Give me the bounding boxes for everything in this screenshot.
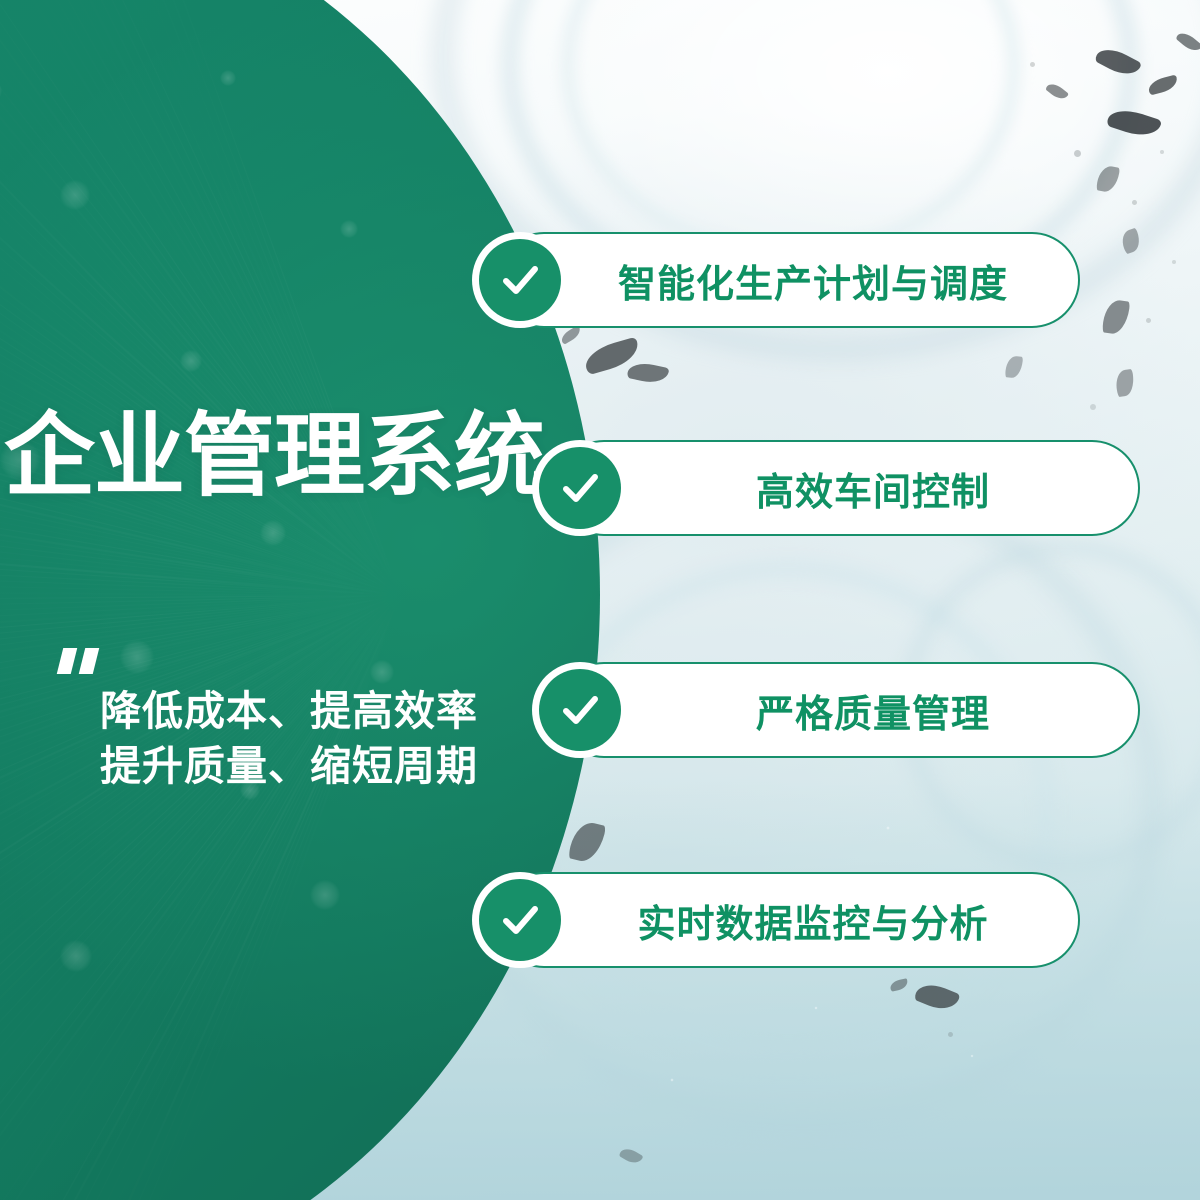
check-circle-icon xyxy=(532,440,628,536)
promo-poster: 企业管理系统 降低成本、提高效率 提升质量、缩短周期 智能化生产计划与调度 xyxy=(0,0,1200,1200)
feature-pill-label: 高效车间控制 xyxy=(558,461,1138,516)
feature-pill-1[interactable]: 智能化生产计划与调度 xyxy=(496,232,1080,328)
check-circle-icon xyxy=(532,662,628,758)
feature-pill-4[interactable]: 实时数据监控与分析 xyxy=(496,872,1080,968)
feature-pill-label: 智能化生产计划与调度 xyxy=(498,253,1078,308)
feature-pill-3[interactable]: 严格质量管理 xyxy=(556,662,1140,758)
check-circle-icon xyxy=(472,872,568,968)
radial-ray-texture xyxy=(0,0,600,1200)
green-panel xyxy=(0,0,600,1200)
feature-pill-label: 严格质量管理 xyxy=(558,683,1138,738)
check-circle-icon xyxy=(472,232,568,328)
feature-pill-label: 实时数据监控与分析 xyxy=(498,893,1078,948)
feature-pill-2[interactable]: 高效车间控制 xyxy=(556,440,1140,536)
